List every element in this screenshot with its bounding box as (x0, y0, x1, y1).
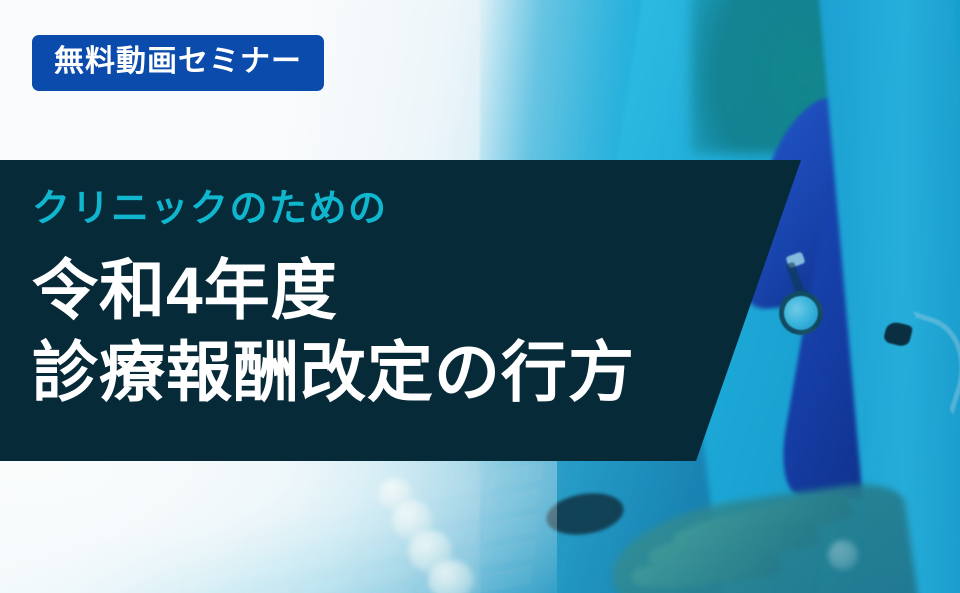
headline-block: クリニックのための 令和4年度 診療報酬改定の行方 (32, 186, 635, 413)
headline-title-line-2: 診療報酬改定の行方 (32, 332, 635, 413)
seminar-badge: 無料動画セミナー (32, 35, 324, 91)
headline-title-line-1: 令和4年度 (32, 250, 635, 331)
seminar-banner: 無料動画セミナー クリニックのための 令和4年度 診療報酬改定の行方 (0, 0, 960, 593)
headline-subtitle: クリニックのための (32, 186, 635, 234)
